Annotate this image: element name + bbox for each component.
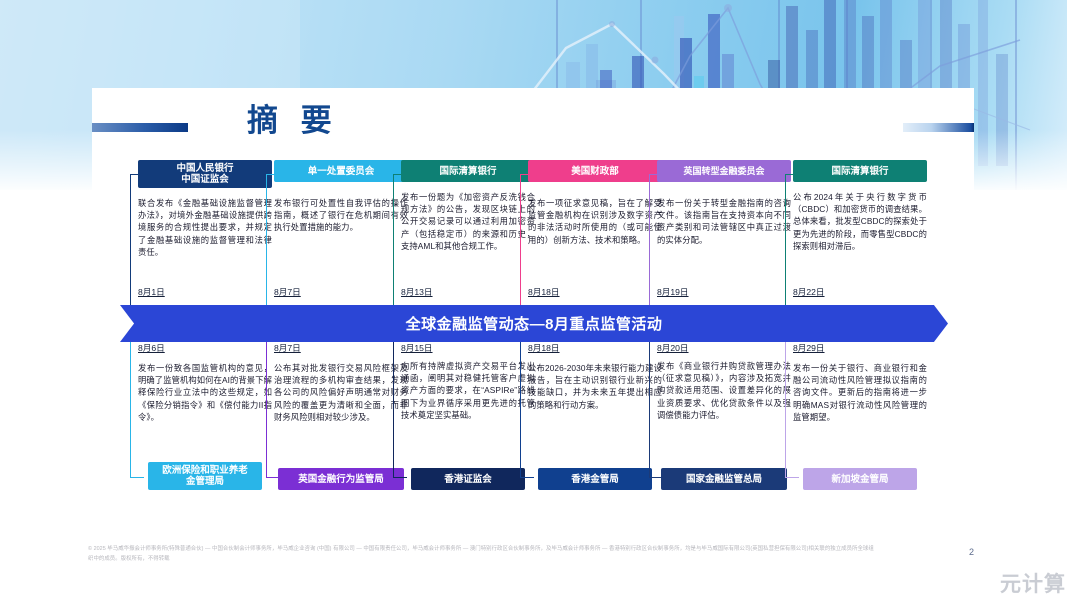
org-badge-label: 香港金管局 [571,474,619,485]
timeline-bottom-item-5: 8月20日 发布《商业银行并购贷款管理办法（征求意见稿）》，内容涉及拓宽并购贷款… [657,342,791,490]
connector-line-5 [649,174,650,305]
org-badge: 国际清算银行 [793,160,927,182]
connector-stem-4 [520,174,530,175]
item-description: 发布一份关于转型金融指南的咨询文件。该指南旨在支持资本向不同资产类别和司法管辖区… [657,197,791,246]
org-badge-line1: 中国人民银行 [176,163,233,174]
title-row: 摘 要 [92,95,974,141]
timeline-top-item-2: 单一处置委员会 发布银行可处置性自我评估的操作指南，概述了银行在危机期间有效执行… [274,160,408,305]
org-badge-line1: 欧洲保险和职业养老 [162,465,248,476]
connector-stem-5 [649,174,659,175]
watermark-logo: 元计算 [1000,568,1066,598]
timeline-bottom-item-4: 8月18日 公布2026-2030年未来银行能力建设报告，旨在主动识别银行业新兴… [528,342,662,490]
org-badge: 中国人民银行 中国证监会 [138,160,272,188]
item-description: 公布2026-2030年未来银行能力建设报告，旨在主动识别银行业新兴的技能缺口，… [528,362,662,411]
connector-line-1 [130,174,131,305]
timeline-top-item-6: 国际清算银行 公布2024年关于央行数字货币（CBDC）和加密货币的调查结果。总… [793,160,927,305]
org-badge-line2: 金管理局 [186,476,224,487]
item-date: 8月29日 [793,342,927,354]
item-date: 8月20日 [657,342,791,354]
org-badge-label: 国际清算银行 [439,166,496,177]
item-description: 联合发布《金融基础设施监督管理办法》，对境外金融基础设施提供跨境服务的合规性提出… [138,197,272,258]
org-badge: 香港证监会 [411,468,525,490]
connector-stem-3 [393,174,403,175]
connector-line-6 [785,174,786,305]
connector-stem-b6 [785,477,799,478]
timeline-bottom-item-1: 8月6日 发布一份致各国监管机构的意见，明确了监管机构如何在AI的背景下解释保险… [138,342,272,490]
org-badge-label: 单一处置委员会 [308,166,375,177]
item-date: 8月22日 [793,286,825,298]
timeline-top-item-4: 美国财政部 发布一项征求意见稿，旨在了解受监管金融机构在识别涉及数字资产的非法活… [528,160,662,305]
org-badge: 欧洲保险和职业养老 金管理局 [148,462,262,490]
connector-line-b1 [130,342,131,477]
connector-stem-b4 [520,477,534,478]
connector-line-b5 [649,342,650,477]
item-date: 8月15日 [401,342,535,354]
item-description: 发布银行可处置性自我评估的操作指南，概述了银行在危机期间有效执行处置措施的能力。 [274,197,408,234]
item-description: 公布2024年关于央行数字货币（CBDC）和加密货币的调查结果。总体来看，批发型… [793,191,927,252]
item-date: 8月18日 [528,342,662,354]
connector-stem-1 [130,174,140,175]
item-date: 8月6日 [138,342,272,354]
connector-stem-2 [266,174,276,175]
org-badge-label: 国际清算银行 [831,166,888,177]
page-title: 摘 要 [247,95,339,140]
item-date: 8月18日 [528,286,560,298]
footer-copyright: © 2025 毕马威华振会计师事务所(特殊普通合伙) — 中国合伙制会计师事务所… [88,545,878,564]
org-badge-label: 香港证监会 [444,474,492,485]
org-badge-label: 英国转型金融委员会 [683,166,764,177]
item-description: 发布一项征求意见稿，旨在了解受监管金融机构在识别涉及数字资产的非法活动时所使用的… [528,197,662,246]
item-description: 向所有持牌虚拟资产交易平台发出通函，阐明其对稳健托管客户虚拟资产方面的要求，在“… [401,360,535,421]
connector-stem-b3 [393,477,407,478]
org-badge: 英国金融行为监管局 [278,468,404,490]
connector-stem-b1 [130,477,144,478]
title-rule-right [903,123,974,132]
timeline-banner: 全球金融监管动态—8月重点监管活动 [120,305,948,342]
org-badge: 国际清算银行 [401,160,535,182]
org-badge-line2: 中国证监会 [181,174,229,185]
item-description: 公布其对批发银行交易风险框架及治理流程的多机构审查结果，发现各公司的风险偏好声明… [274,362,408,423]
item-description: 发布一份致各国监管机构的意见，明确了监管机构如何在AI的背景下解释保险行业立法中… [138,362,272,423]
connector-stem-b2 [266,477,278,478]
content-card-extension [92,518,974,532]
item-description: 发布《商业银行并购贷款管理办法（征求意见稿）》，内容涉及拓宽并购贷款适用范围、设… [657,360,791,421]
connector-line-2 [266,174,267,305]
connector-line-4 [520,174,521,305]
org-badge: 香港金管局 [538,468,652,490]
page-number: 2 [969,547,974,557]
connector-stem-6 [785,174,795,175]
item-description: 发布一份关于银行、商业银行和金融公司流动性风险管理拟议指南的咨询文件。更新后的指… [793,362,927,423]
item-date: 8月13日 [401,286,433,298]
org-badge-label: 美国财政部 [571,166,619,177]
timeline-bottom-item-2: 8月7日 公布其对批发银行交易风险框架及治理流程的多机构审查结果，发现各公司的风… [274,342,408,490]
item-date: 8月7日 [274,286,301,298]
org-badge-label: 英国金融行为监管局 [298,474,384,485]
timeline-bottom-item-6: 8月29日 发布一份关于银行、商业银行和金融公司流动性风险管理拟议指南的咨询文件… [793,342,927,490]
org-badge-label: 新加坡金管局 [831,474,888,485]
org-badge-label: 国家金融监管总局 [686,474,762,485]
connector-line-b3 [393,342,394,477]
timeline-top-item-5: 英国转型金融委员会 发布一份关于转型金融指南的咨询文件。该指南旨在支持资本向不同… [657,160,791,305]
timeline-banner-label: 全球金融监管动态—8月重点监管活动 [120,305,948,342]
item-date: 8月1日 [138,286,165,298]
connector-line-b4 [520,342,521,477]
org-badge: 美国财政部 [528,160,662,182]
timeline-top-item-3: 国际清算银行 发布一份题为《加密资产反洗钱合规方法》的公告，发现区块链上的公开交… [401,160,535,305]
timeline-bottom-item-3: 8月15日 向所有持牌虚拟资产交易平台发出通函，阐明其对稳健托管客户虚拟资产方面… [401,342,535,490]
org-badge: 国家金融监管总局 [661,468,787,490]
connector-stem-b5 [649,477,661,478]
org-badge: 新加坡金管局 [803,468,917,490]
connector-line-b2 [266,342,267,477]
org-badge: 英国转型金融委员会 [657,160,791,182]
connector-line-b6 [785,342,786,477]
item-date: 8月19日 [657,286,689,298]
item-date: 8月7日 [274,342,408,354]
title-rule-left [92,123,188,132]
connector-line-3 [393,174,394,305]
org-badge: 单一处置委员会 [274,160,408,182]
timeline: 中国人民银行 中国证监会 联合发布《金融基础设施监督管理办法》，对境外金融基础设… [92,160,974,490]
item-description: 发布一份题为《加密资产反洗钱合规方法》的公告，发现区块链上的公开交易记录可以通过… [401,191,535,252]
timeline-top-item-1: 中国人民银行 中国证监会 联合发布《金融基础设施监督管理办法》，对境外金融基础设… [138,160,272,305]
